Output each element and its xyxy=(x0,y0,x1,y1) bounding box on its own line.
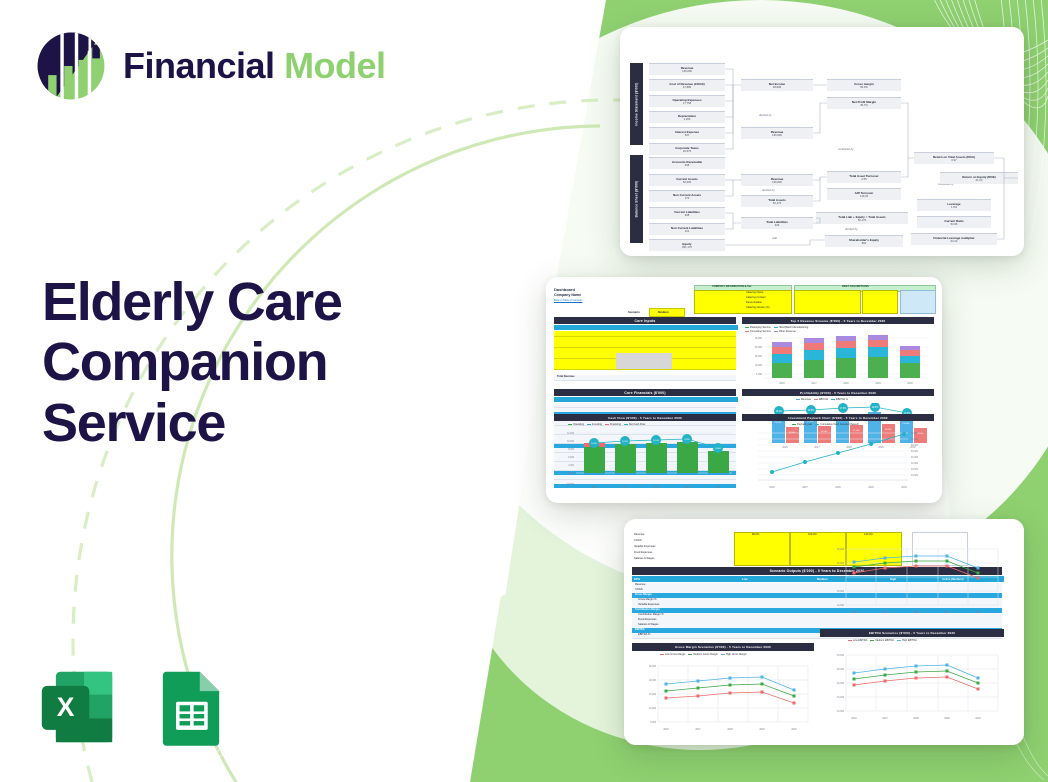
svg-text:5,000: 5,000 xyxy=(756,373,763,376)
scenario-analysis-card[interactable]: Revenue COGS Variable Expenses Fixed Exp… xyxy=(624,519,1024,745)
svg-text:2030: 2030 xyxy=(901,486,907,489)
svg-text:20,000: 20,000 xyxy=(911,469,919,471)
page-title-line-1: Elderly Care xyxy=(42,272,442,332)
svg-text:2028: 2028 xyxy=(843,382,849,385)
svg-text:2029: 2029 xyxy=(944,611,950,614)
svg-text:2027: 2027 xyxy=(622,486,628,489)
core-inputs-header: Core Inputs xyxy=(554,317,736,324)
scenario-sheet: Revenue COGS Variable Expenses Fixed Exp… xyxy=(624,519,1024,745)
flow-diagram-sheet: Income Statement ($'000) Balance Sheet (… xyxy=(620,27,1024,256)
financial-flow-diagram-card[interactable]: Income Statement ($'000) Balance Sheet (… xyxy=(620,27,1024,256)
svg-text:2030: 2030 xyxy=(715,486,721,489)
flow-connectors xyxy=(620,27,1024,256)
svg-text:20,000: 20,000 xyxy=(649,680,657,682)
assumption-label: Salaries & Wages xyxy=(634,558,655,561)
svg-text:30,000: 30,000 xyxy=(837,655,845,657)
gross-margin-scenarios-chart: 25,000 20,000 15,000 10,000 5,000 202620… xyxy=(632,658,814,738)
working-capital-grid[interactable] xyxy=(862,290,898,314)
scenario-label: Scenario xyxy=(628,311,640,314)
svg-text:15,000: 15,000 xyxy=(837,697,845,699)
svg-text:2027: 2027 xyxy=(695,728,701,731)
svg-text:2027: 2027 xyxy=(802,486,808,489)
app-compatibility-icons: X xyxy=(33,663,235,751)
svg-text:6,800: 6,800 xyxy=(715,448,721,450)
microsoft-excel-icon: X xyxy=(33,663,121,751)
svg-text:2030: 2030 xyxy=(791,728,797,731)
financial-model-circle-logo-icon xyxy=(33,28,109,104)
core-financials-header: Core Financials ($'000) xyxy=(554,389,736,396)
svg-text:40,000: 40,000 xyxy=(911,457,919,459)
revenue-streams-chart: 25,00020,000 15,00010,000 5,000 xyxy=(742,334,934,386)
svg-text:20,000: 20,000 xyxy=(837,683,845,685)
svg-text:2029: 2029 xyxy=(875,382,881,385)
svg-text:8,700: 8,700 xyxy=(622,441,628,443)
key-metrics-grid[interactable] xyxy=(900,290,936,314)
payback-header: Investment Payback Chart ($'000) - 5 Yea… xyxy=(742,414,934,421)
svg-text:9,100: 9,100 xyxy=(653,440,659,442)
back-to-contents-link[interactable]: Back to Table of Contents xyxy=(554,300,582,303)
assumption-label: Revenue xyxy=(634,534,644,537)
svg-text:2026: 2026 xyxy=(779,382,785,385)
page-title-line-2: Companion xyxy=(42,332,442,392)
svg-text:(2,000): (2,000) xyxy=(567,484,575,486)
svg-text:2030: 2030 xyxy=(975,611,981,614)
svg-text:2030: 2030 xyxy=(975,717,981,720)
dashboard-title: Dashboard xyxy=(554,288,575,292)
svg-text:70,000: 70,000 xyxy=(911,439,919,441)
svg-text:2026: 2026 xyxy=(851,717,857,720)
svg-text:10,000: 10,000 xyxy=(837,711,845,713)
svg-text:2026: 2026 xyxy=(663,728,669,731)
revenue-streams-header: Top 5 Revenue Streams ($'000) - 5 Years … xyxy=(742,317,934,324)
svg-text:25,000: 25,000 xyxy=(837,563,845,565)
assumption-label: Fixed Expenses xyxy=(634,552,652,555)
brand-lockup: Financial Model xyxy=(33,28,386,104)
svg-text:2028: 2028 xyxy=(727,728,733,731)
svg-text:25,000: 25,000 xyxy=(649,666,657,668)
dashboard-subtitle: Company Name xyxy=(554,294,581,298)
assumption-label: Variable Expenses xyxy=(634,546,655,549)
svg-text:15,000: 15,000 xyxy=(837,591,845,593)
svg-text:2029: 2029 xyxy=(684,486,690,489)
left-content-column: Financial Model Elderly Care Companion S… xyxy=(0,0,470,782)
ebitda-scenarios-chart: 30,000 25,000 20,000 15,000 10,000 20262… xyxy=(820,645,1004,737)
svg-text:2029: 2029 xyxy=(868,486,874,489)
ebitda-legend: Low EBITDA Medium EBITDA High EBITDA xyxy=(848,639,917,642)
svg-text:2028: 2028 xyxy=(835,486,841,489)
svg-text:2,000: 2,000 xyxy=(568,473,574,475)
page-title-line-3: Service xyxy=(42,393,442,453)
company-info-grid[interactable] xyxy=(694,290,792,314)
brand-word-model: Model xyxy=(284,45,386,86)
svg-text:6,000: 6,000 xyxy=(568,457,574,459)
svg-text:25,000: 25,000 xyxy=(837,669,845,671)
svg-text:50,000: 50,000 xyxy=(911,451,919,453)
assumption-label: COGS xyxy=(634,540,642,543)
svg-text:25,000: 25,000 xyxy=(755,337,763,340)
svg-text:80,000: 80,000 xyxy=(911,433,919,435)
total-revenue-row xyxy=(554,375,736,381)
investment-payback-chart: 80,000 70,000 60,000 50,000 40,000 30,00… xyxy=(742,428,934,490)
revenue-streams-legend-2: Consulting Service Other Revenue xyxy=(745,330,796,333)
svg-text:2027: 2027 xyxy=(811,382,817,385)
slide-canvas: Financial Model Elderly Care Companion S… xyxy=(0,0,1048,782)
svg-text:2028: 2028 xyxy=(913,611,919,614)
grey-block xyxy=(616,353,672,369)
svg-text:2027: 2027 xyxy=(882,611,888,614)
svg-text:2028: 2028 xyxy=(913,717,919,720)
gross-margin-header: Gross Margin Scenarios ($'000) - 5 Years… xyxy=(632,643,814,651)
svg-text:30,000: 30,000 xyxy=(837,549,845,551)
svg-text:10,000: 10,000 xyxy=(567,441,575,443)
svg-text:60,000: 60,000 xyxy=(911,445,919,447)
cash-flow-header: Cash Flow ($'000) - 5 Years to December … xyxy=(554,414,736,421)
gross-margin-legend: Low Gross Margin Medium Gross Margin Hig… xyxy=(660,653,747,656)
svg-text:8,000: 8,000 xyxy=(568,449,574,451)
svg-text:X: X xyxy=(57,692,75,722)
core-inputs-subheader xyxy=(554,325,738,330)
cash-flow-chart: 12,00010,0008,000 6,0004,0002,000 (2,000… xyxy=(554,428,736,490)
svg-text:2026: 2026 xyxy=(769,486,775,489)
page-title: Elderly Care Companion Service xyxy=(42,272,442,453)
ebitda-scenarios-header: EBITDA Scenarios ($'000) - 5 Years to De… xyxy=(820,629,1004,637)
svg-text:12,000: 12,000 xyxy=(567,433,575,435)
svg-text:20,000: 20,000 xyxy=(837,577,845,579)
svg-text:10,000: 10,000 xyxy=(837,605,845,607)
svg-text:10,000: 10,000 xyxy=(649,708,657,710)
google-sheets-icon xyxy=(147,663,235,751)
svg-text:2029: 2029 xyxy=(944,717,950,720)
svg-text:2028: 2028 xyxy=(653,486,659,489)
svg-text:2026: 2026 xyxy=(591,486,597,489)
svg-text:30,000: 30,000 xyxy=(911,463,919,465)
debt-assumptions-grid[interactable] xyxy=(794,290,861,314)
low-assumption-col[interactable] xyxy=(734,532,790,566)
ebitda-scenarios-chart-top: 30,000 25,000 20,000 15,000 10,000 20262… xyxy=(820,537,1004,625)
svg-text:8,200: 8,200 xyxy=(591,443,597,445)
brand-word-financial: Financial xyxy=(123,45,275,86)
svg-text:10,000: 10,000 xyxy=(911,475,919,477)
svg-text:5,000: 5,000 xyxy=(650,722,656,724)
svg-text:9,300: 9,300 xyxy=(684,439,690,441)
revenue-streams-legend: Packaging Service Hand Batch Manufacturi… xyxy=(745,326,808,329)
cash-flow-legend: Operating Investing Financing Net Cash F… xyxy=(568,423,645,426)
scenario-value: Medium xyxy=(658,311,669,314)
svg-text:4,000: 4,000 xyxy=(568,465,574,467)
payback-legend: Payback year Cumulative Cash Invested (S… xyxy=(792,423,859,426)
brand-wordmark: Financial Model xyxy=(123,48,386,84)
svg-text:10,000: 10,000 xyxy=(755,364,763,367)
svg-text:2026: 2026 xyxy=(851,611,857,614)
svg-text:15,000: 15,000 xyxy=(649,694,657,696)
svg-text:2027: 2027 xyxy=(882,717,888,720)
profitability-header: Profitability ($'000) - 5 Years to Decem… xyxy=(742,389,934,396)
svg-text:15,000: 15,000 xyxy=(755,355,763,358)
svg-text:2030: 2030 xyxy=(907,382,913,385)
svg-text:2029: 2029 xyxy=(759,728,765,731)
dashboard-charts-row: Cash Flow ($'000) - 5 Years to December … xyxy=(546,398,942,503)
svg-text:20,000: 20,000 xyxy=(755,346,763,349)
